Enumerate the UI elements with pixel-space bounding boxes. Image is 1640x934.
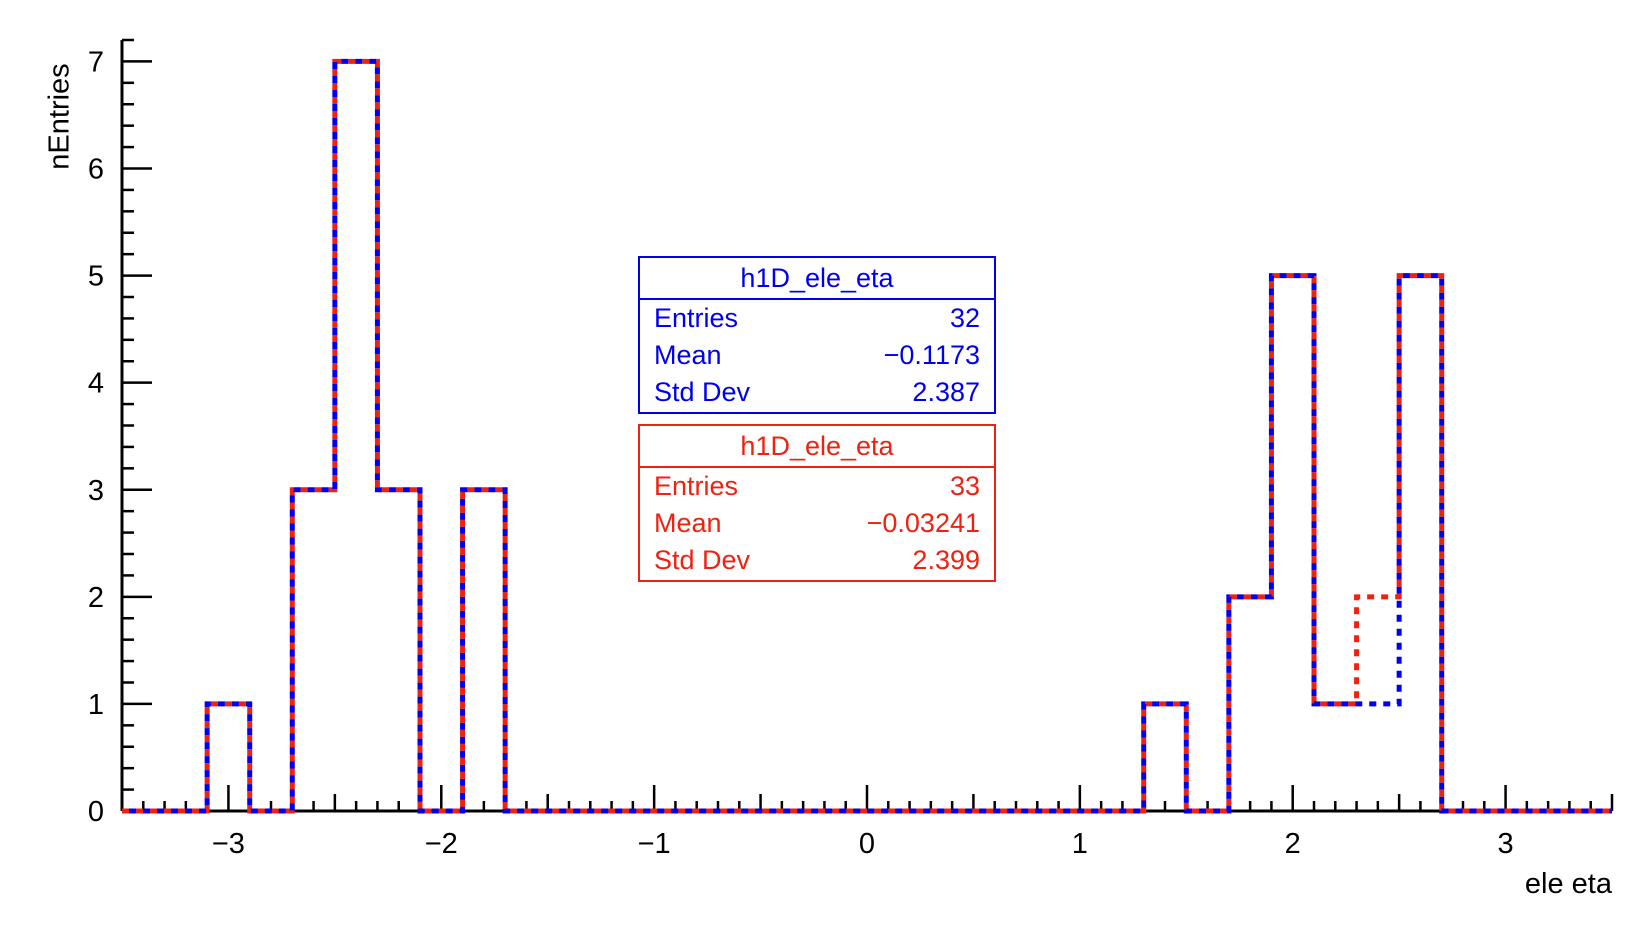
stats-label-entries: Entries bbox=[654, 300, 738, 337]
stats-row-entries: Entries 32 bbox=[640, 300, 994, 337]
stats-box-blue-rows: Entries 32 Mean −0.1173 Std Dev 2.387 bbox=[640, 300, 994, 411]
y-axis-tick-label: 5 bbox=[88, 261, 104, 293]
stats-row-entries: Entries 33 bbox=[640, 468, 994, 505]
x-axis-tick-label: 2 bbox=[1285, 828, 1301, 860]
x-axis-tick-label: −1 bbox=[638, 828, 671, 860]
stats-value-mean: −0.03241 bbox=[867, 505, 980, 542]
stats-box-red-title: h1D_ele_eta bbox=[640, 426, 994, 468]
x-axis-tick-label: 1 bbox=[1072, 828, 1088, 860]
stats-box-blue[interactable]: h1D_ele_eta Entries 32 Mean −0.1173 Std … bbox=[638, 256, 996, 414]
y-axis-tick-label: 1 bbox=[88, 689, 104, 721]
stats-row-stddev: Std Dev 2.399 bbox=[640, 542, 994, 579]
y-axis-tick-label: 6 bbox=[88, 154, 104, 186]
y-axis-tick-label: 7 bbox=[88, 46, 104, 78]
stats-label-entries: Entries bbox=[654, 468, 738, 505]
y-axis-tick-label: 2 bbox=[88, 582, 104, 614]
stats-value-entries: 33 bbox=[950, 468, 980, 505]
stats-box-red-rows: Entries 33 Mean −0.03241 Std Dev 2.399 bbox=[640, 468, 994, 579]
x-axis-title: ele eta bbox=[1525, 868, 1613, 900]
stats-value-entries: 32 bbox=[950, 300, 980, 337]
y-axis-tick-label: 3 bbox=[88, 475, 104, 507]
stats-row-mean: Mean −0.03241 bbox=[640, 505, 994, 542]
y-axis-title: nEntries bbox=[44, 37, 77, 197]
x-axis-tick-label: −3 bbox=[212, 828, 245, 860]
root-canvas: −3−2−10123ele eta01234567 nEntries h1D_e… bbox=[0, 0, 1640, 934]
stats-row-stddev: Std Dev 2.387 bbox=[640, 374, 994, 411]
stats-label-mean: Mean bbox=[654, 337, 722, 374]
stats-label-stddev: Std Dev bbox=[654, 542, 750, 579]
stats-value-mean: −0.1173 bbox=[884, 337, 980, 374]
x-axis-tick-label: 3 bbox=[1498, 828, 1514, 860]
stats-row-mean: Mean −0.1173 bbox=[640, 337, 994, 374]
stats-label-stddev: Std Dev bbox=[654, 374, 750, 411]
stats-value-stddev: 2.399 bbox=[912, 542, 980, 579]
stats-box-blue-title: h1D_ele_eta bbox=[640, 258, 994, 300]
stats-label-mean: Mean bbox=[654, 505, 722, 542]
x-axis-tick-label: −2 bbox=[425, 828, 458, 860]
stats-value-stddev: 2.387 bbox=[912, 374, 980, 411]
y-axis-tick-label: 0 bbox=[88, 796, 104, 828]
stats-box-red[interactable]: h1D_ele_eta Entries 33 Mean −0.03241 Std… bbox=[638, 424, 996, 582]
x-axis-tick-label: 0 bbox=[859, 828, 875, 860]
y-axis-tick-label: 4 bbox=[88, 368, 104, 400]
